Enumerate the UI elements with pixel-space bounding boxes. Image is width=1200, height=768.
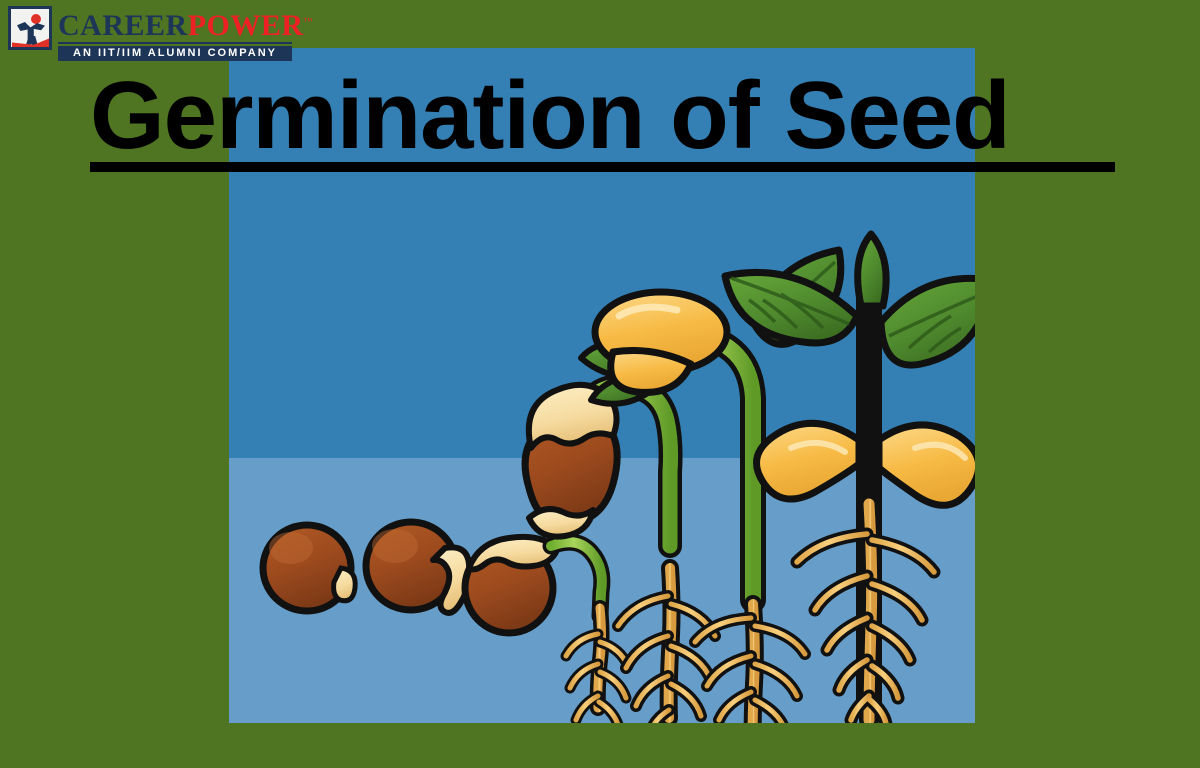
stage-1-dormant-seed [263,525,355,611]
logo-tagline: AN IIT/IIM ALUMNI COMPANY [58,46,292,61]
figure-head-icon [31,14,41,24]
stage-2-radicle-emerging [366,522,469,613]
poster-canvas: CAREERPOWER™ AN IIT/IIM ALUMNI COMPANY G… [0,0,1200,768]
logo-text-block: CAREERPOWER™ AN IIT/IIM ALUMNI COMPANY [58,6,313,61]
page-title-underline [90,162,1115,172]
logo-divider [58,42,292,44]
career-power-logo[interactable]: CAREERPOWER™ AN IIT/IIM ALUMNI COMPANY [8,6,296,56]
page-title: Germination of Seed [90,62,1120,174]
trademark-symbol: ™ [304,16,313,26]
logo-wordmark: CAREERPOWER™ [58,6,313,41]
logo-word-power: POWER [188,9,304,42]
figure-legs-icon [24,36,40,50]
career-power-figure-icon [8,6,52,50]
stage-3-seed-coat-splits [465,537,628,723]
logo-word-career: CAREER [58,9,188,42]
